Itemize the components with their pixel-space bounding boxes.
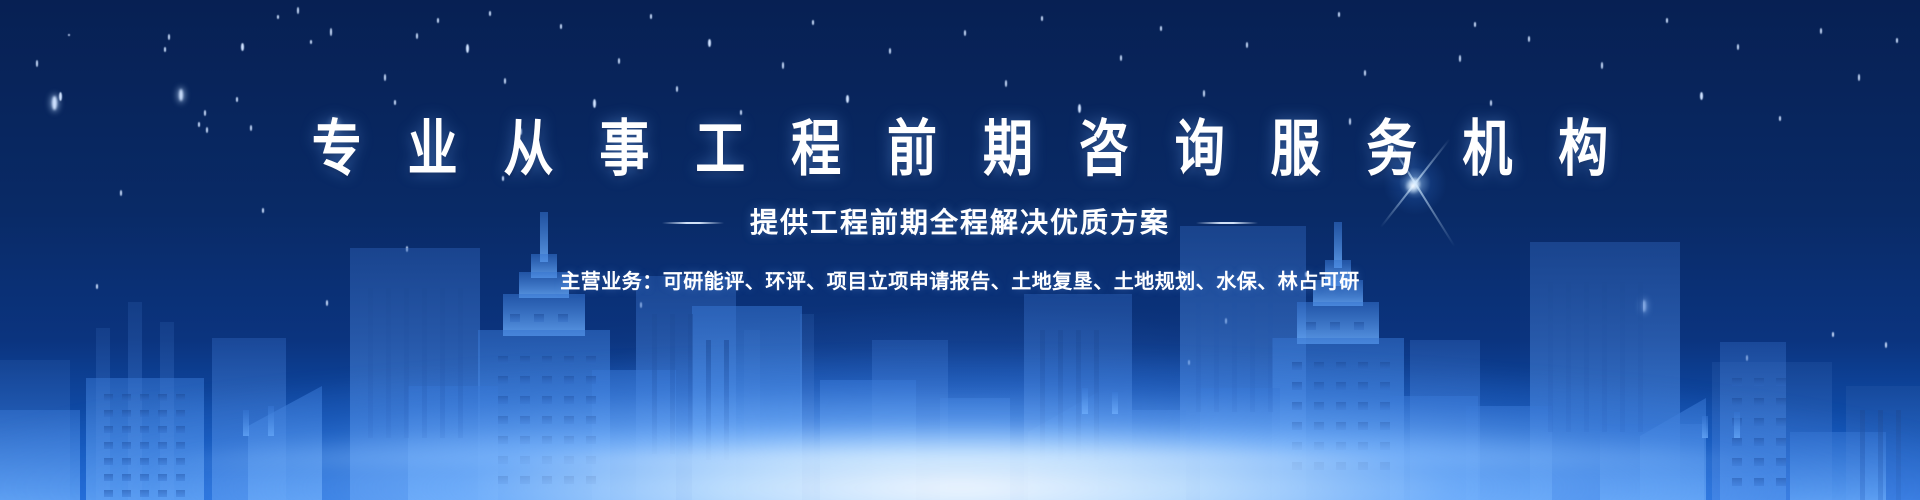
- hero-banner: 专 业 从 事 工 程 前 期 咨 询 服 务 机 构 提供工程前期全程解决优质…: [0, 0, 1920, 500]
- left-dash-divider: [662, 222, 724, 224]
- right-dash-divider: [1196, 222, 1258, 224]
- business-scope-tagline: 主营业务：可研能评、环评、项目立项申请报告、土地复垦、土地规划、水保、林占可研: [0, 268, 1920, 296]
- subtitle-row: 提供工程前期全程解决优质方案: [0, 206, 1920, 240]
- page-subtitle: 提供工程前期全程解决优质方案: [750, 206, 1170, 240]
- banner-content: 专 业 从 事 工 程 前 期 咨 询 服 务 机 构 提供工程前期全程解决优质…: [0, 0, 1920, 500]
- page-title: 专 业 从 事 工 程 前 期 咨 询 服 务 机 构: [0, 116, 1920, 182]
